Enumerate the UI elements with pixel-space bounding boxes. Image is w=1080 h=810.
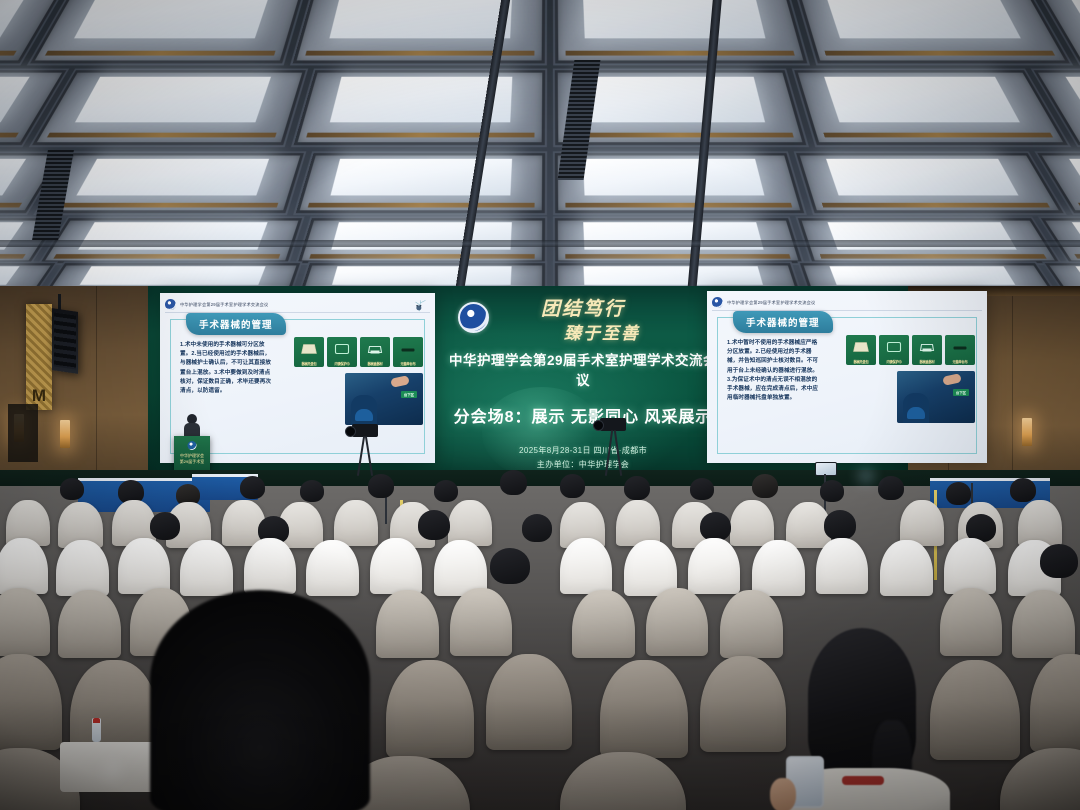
ceiling-light-panel — [293, 151, 547, 215]
thumb-drape: 内镜保护巾 — [879, 335, 909, 365]
cna-emblem-icon — [458, 302, 489, 333]
thumb-sheet: 无菌单台布 — [945, 335, 975, 365]
ceiling-light-panel — [553, 0, 810, 65]
thumb-case: 器械盒器材 — [360, 337, 390, 367]
foreground-attendee-right — [790, 628, 940, 810]
bokeh-highlight — [860, 470, 872, 482]
photo-tag: 台下区 — [401, 391, 417, 398]
coffered-ceiling — [0, 0, 1080, 292]
wall-sconce — [1022, 418, 1032, 446]
ceiling-light-panel — [791, 0, 1073, 65]
thumb-caption: 器械托盘包 — [846, 359, 876, 364]
slide-thumbnail-row: 器械托盘包 内镜保护巾 器械盒器材 无菌单台布 — [846, 335, 975, 365]
thumb-caption: 内镜保护巾 — [327, 361, 357, 366]
slide-header: 中华护理学会第29届手术室护理学术交流会议 — [712, 295, 982, 311]
panda-bamboo-icon — [412, 297, 429, 312]
thumb-caption: 器械盒器材 — [360, 361, 390, 366]
led-center-content: 团结笃行 臻于至善 中华护理学会第29届手术室护理学术交流会议 分会场8：展示 … — [448, 294, 718, 486]
thumb-sheet: 无菌单台布 — [393, 337, 423, 367]
hand-shape — [390, 375, 409, 388]
wall-column — [8, 404, 38, 462]
slide-photo: 台下区 — [897, 371, 975, 423]
slide-body-text: 1.术中暂时不使用的手术器械应严格分区放置。2.已经使用过的手术器械，并告知巡回… — [727, 339, 822, 404]
hand-shape — [942, 373, 961, 386]
cna-emblem-icon — [165, 299, 176, 310]
ceiling-light-panel — [794, 151, 1067, 215]
slide-body-text: 1.术中未使用的手术器械可分区放置。2.当已经使用过的手术器械后，与器械护士确认… — [180, 341, 275, 396]
thumb-tray: 器械托盘包 — [294, 337, 324, 367]
ceiling-beam — [0, 240, 1080, 247]
presenter-figure — [184, 414, 200, 438]
phone-on-tripod[interactable] — [815, 462, 837, 476]
water-bottle — [92, 718, 101, 742]
ceiling-light-panel — [792, 69, 1071, 148]
cna-emblem-icon — [712, 297, 723, 308]
thumb-caption: 内镜保护巾 — [879, 359, 909, 364]
thumb-caption: 器械盒器材 — [912, 359, 942, 364]
conference-hall-photo: M 团结笃行 臻于至 — [0, 0, 1080, 810]
slide-photo: 台下区 — [345, 373, 423, 425]
slide-title: 手术器械的管理 — [733, 311, 833, 333]
bokeh-highlight — [104, 762, 120, 778]
hand-shape — [770, 778, 796, 810]
ceiling-light-panel — [291, 69, 547, 148]
surgical-cap-shape — [907, 407, 925, 419]
date-location: 2025年8月28-31日 四川省·成都市 — [448, 444, 718, 458]
gold-decor-panel: M — [26, 304, 52, 410]
right-projection-slide: 中华护理学会第29届手术室护理学术交流会议 手术器械的管理 1.术中暂时不使用的… — [707, 291, 987, 463]
slide-header: 中华护理学会第29届手术室护理学术交流会议 — [165, 297, 430, 313]
conference-title: 中华护理学会第29届手术室护理学术交流会议 — [448, 349, 718, 389]
ceiling-light-panel — [33, 151, 306, 215]
cna-emblem-icon — [188, 441, 197, 450]
collar-shape — [842, 776, 884, 785]
ceiling-light-panel — [553, 151, 807, 215]
wall-sconce — [60, 420, 70, 448]
session-line: 分会场8：展示 无影同心 风采展示 — [448, 403, 718, 427]
photo-tag: 台下区 — [953, 389, 969, 396]
podium-text-2: 第29届手术室 — [174, 459, 210, 465]
ceiling-light-panel — [29, 69, 308, 148]
wall-letter: M — [26, 386, 52, 406]
slide-thumbnail-row: 器械托盘包 内镜保护巾 器械盒器材 无菌单台布 — [294, 337, 423, 367]
foreground-attendee-left — [150, 590, 370, 810]
thumb-drape: 内镜保护巾 — [327, 337, 357, 367]
ceiling-light-panel — [27, 0, 309, 65]
line-array-speaker — [52, 308, 78, 374]
thumb-caption: 器械托盘包 — [294, 361, 324, 366]
thumb-caption: 无菌单台布 — [945, 359, 975, 364]
thumb-caption: 无菌单台布 — [393, 361, 423, 366]
thumb-tray: 器械托盘包 — [846, 335, 876, 365]
calligraphy-line-2: 臻于至善 — [486, 319, 718, 344]
slide-header-text: 中华护理学会第29届手术室护理学术交流会议 — [727, 300, 815, 306]
slide-header-text: 中华护理学会第29届手术室护理学术交流会议 — [180, 302, 268, 308]
surgical-cap-shape — [355, 409, 373, 421]
slide-title: 手术器械的管理 — [186, 313, 286, 335]
thumb-case: 器械盒器材 — [912, 335, 942, 365]
phone-on-tripod[interactable] — [962, 470, 982, 483]
